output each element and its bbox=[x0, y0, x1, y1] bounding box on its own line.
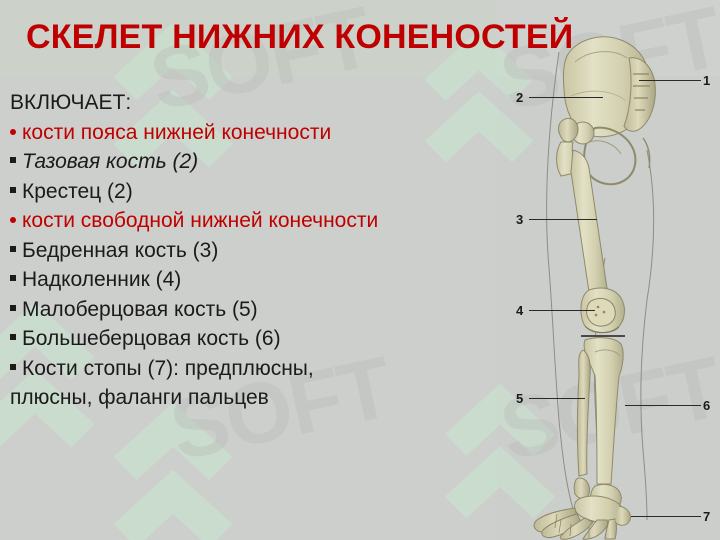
list-item-label: Крестец (2) bbox=[22, 180, 133, 203]
skeleton-lower-limb-illustration: 1 2 3 4 5 6 7 bbox=[497, 0, 720, 540]
list-item-label: Большеберцовая кость (6) bbox=[22, 327, 281, 350]
list-item: Бедренная кость (3) bbox=[8, 240, 488, 261]
list-item: Надколенник (4) bbox=[8, 269, 488, 290]
list-item: Кости стопы (7): предплюсны, bbox=[8, 358, 488, 379]
list-item: Крестец (2) bbox=[8, 181, 488, 202]
leader-line-2 bbox=[529, 97, 603, 98]
list-item: ВКЛЮЧАЕТ: bbox=[8, 92, 488, 113]
list-item: плюсны, фаланги пальцев bbox=[8, 387, 488, 408]
list-item-label: Надколенник (4) bbox=[22, 268, 181, 291]
leader-line-3 bbox=[529, 219, 597, 220]
figure-label-1: 1 bbox=[703, 73, 710, 88]
figure-label-2: 2 bbox=[516, 90, 523, 105]
leader-line-1 bbox=[639, 80, 701, 81]
bullet-square-icon bbox=[10, 305, 16, 311]
list-item-label: Кости стопы (7): предплюсны, bbox=[22, 357, 314, 380]
bullet-square-icon bbox=[10, 246, 16, 252]
list-item-label: ВКЛЮЧАЕТ: bbox=[10, 91, 131, 114]
figure-label-5: 5 bbox=[516, 391, 523, 406]
bullet-round-icon bbox=[10, 217, 16, 223]
list-item: кости свободной нижней конечности bbox=[8, 210, 488, 231]
leader-line-7 bbox=[631, 516, 701, 517]
list-item-label: кости пояса нижней конечности bbox=[22, 121, 331, 144]
list-item-label: Тазовая кость (2) bbox=[22, 150, 198, 173]
figure-label-6: 6 bbox=[703, 398, 710, 413]
skeleton-drawing bbox=[497, 0, 720, 540]
page-title: СКЕЛЕТ НИЖНИХ КОНЕНОСТЕЙ bbox=[26, 18, 573, 57]
bullet-square-icon bbox=[10, 334, 16, 340]
bullet-round-icon bbox=[10, 129, 16, 135]
bullet-square-icon bbox=[10, 364, 16, 370]
list-item-label: Малоберцовая кость (5) bbox=[22, 298, 258, 321]
content-list: ВКЛЮЧАЕТ: кости пояса нижней конечности … bbox=[8, 92, 488, 417]
list-item: Тазовая кость (2) bbox=[8, 151, 488, 172]
bullet-square-icon bbox=[10, 187, 16, 193]
list-item: кости пояса нижней конечности bbox=[8, 122, 488, 143]
leader-line-6 bbox=[625, 405, 701, 406]
bullet-square-icon bbox=[10, 157, 16, 163]
list-item: Большеберцовая кость (6) bbox=[8, 328, 488, 349]
slide-canvas: SOFT SOFT SOFT SOFT СКЕЛЕТ НИЖНИХ КОНЕНО… bbox=[0, 0, 720, 540]
figure-label-3: 3 bbox=[516, 212, 523, 227]
list-item-label: Бедренная кость (3) bbox=[22, 239, 218, 262]
list-item: Малоберцовая кость (5) bbox=[8, 299, 488, 320]
figure-label-4: 4 bbox=[516, 303, 523, 318]
list-item-label: кости свободной нижней конечности bbox=[22, 209, 378, 232]
leader-line-4 bbox=[529, 310, 595, 311]
figure-label-7: 7 bbox=[703, 509, 710, 524]
bullet-square-icon bbox=[10, 275, 16, 281]
leader-line-5 bbox=[529, 398, 585, 399]
list-item-label: плюсны, фаланги пальцев bbox=[10, 386, 269, 409]
